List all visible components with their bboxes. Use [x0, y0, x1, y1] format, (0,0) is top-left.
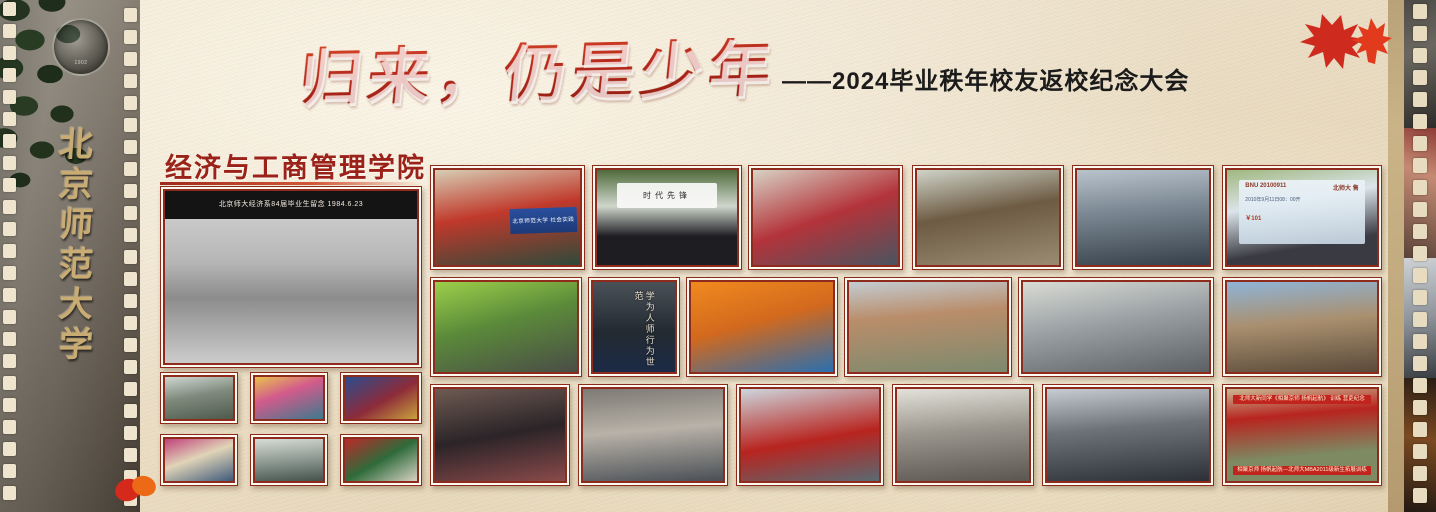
film-perforation — [1413, 4, 1427, 19]
right-border-panel — [1388, 0, 1436, 512]
photo-frame: BNU 20100911北师大 售2010年9月11日08：00开￥101 — [1225, 168, 1379, 267]
department-title: 经济与工商管理学院 — [165, 146, 426, 185]
graduation-gowns-photo[interactable]: 时代先锋 — [592, 165, 742, 270]
film-perforation — [3, 332, 16, 346]
photo-frame — [1075, 168, 1211, 267]
evening-party-group-photo[interactable] — [430, 384, 570, 486]
film-perforation — [1413, 334, 1427, 349]
film-perforation — [124, 228, 137, 242]
photo-image — [255, 439, 323, 481]
orange-shirts-team-photo[interactable] — [686, 277, 838, 377]
photo-frame — [847, 280, 1009, 374]
film-perforation — [1413, 290, 1427, 305]
photo-image — [345, 377, 417, 419]
film-strip-right-perforations — [1404, 0, 1436, 512]
maple-leaf-icon-bottom-left — [110, 466, 166, 506]
photo-image — [917, 170, 1059, 265]
bnu-char-0: 北 — [58, 128, 94, 162]
red-shirts-classroom-photo[interactable]: 北京师范大学 社会实践 — [430, 165, 585, 270]
photo-frame — [751, 168, 900, 267]
campus-wall-photo-panel: 1902 北 京 师 范 大 学 — [0, 0, 140, 512]
mba-training-group-photo[interactable]: 北师大新同学《相聚京师 扬帆起航》 训练 营吏纪念相聚京师 扬帆起航—北师大MB… — [1222, 384, 1382, 486]
film-perforation — [124, 140, 137, 154]
photo-image — [165, 377, 233, 419]
mountain-trip-group-photo[interactable] — [1222, 277, 1382, 377]
film-perforation — [3, 376, 16, 390]
photo-frame — [433, 280, 579, 374]
film-perforation — [124, 118, 137, 132]
film-perforation — [3, 112, 16, 126]
film-perforation — [124, 426, 137, 440]
film-perforation — [1413, 356, 1427, 371]
film-perforation — [1413, 246, 1427, 261]
film-perforation — [1413, 158, 1427, 173]
photo-image — [435, 282, 577, 372]
film-perforation — [3, 288, 16, 302]
outdoor-tree-group-photo[interactable] — [912, 165, 1064, 270]
office-meeting-group-photo[interactable] — [892, 384, 1034, 486]
film-perforation — [3, 178, 16, 192]
award-ceremony-photo[interactable] — [160, 434, 238, 486]
photo-image — [1047, 389, 1209, 481]
green-flag-group-photo[interactable] — [430, 277, 582, 377]
film-perforation — [124, 338, 137, 352]
sports-meet-banner-photo[interactable] — [736, 384, 884, 486]
film-perforation — [124, 162, 137, 176]
santa-hats-group-photo[interactable] — [340, 434, 422, 486]
bnu-char-5: 学 — [58, 328, 94, 362]
bnu-char-3: 范 — [58, 248, 94, 282]
film-perforation — [3, 134, 16, 148]
film-perforation — [3, 464, 16, 478]
film-perforation — [124, 206, 137, 220]
film-perforation — [1413, 378, 1427, 393]
photo-image — [741, 389, 879, 481]
bnu-motto-stone-photo[interactable]: 学为人师行为世范 — [588, 277, 680, 377]
photo-frame — [1225, 280, 1379, 374]
film-perforation — [3, 156, 16, 170]
film-perforation — [124, 360, 137, 374]
photo-caption: 北京师大经济系84届毕业生留念 1984.6.23 — [165, 191, 417, 219]
classroom-group-photo[interactable] — [160, 372, 238, 424]
photo-frame — [1045, 387, 1211, 483]
photo-frame — [163, 375, 235, 421]
film-perforation — [1413, 48, 1427, 63]
photo-frame — [253, 437, 325, 483]
photo-frame — [163, 437, 235, 483]
film-perforation — [124, 8, 137, 22]
film-perforation — [1413, 70, 1427, 85]
department-title-underline — [160, 182, 420, 185]
bnu-char-1: 京 — [58, 168, 94, 202]
party-decoration-photo[interactable] — [250, 372, 328, 424]
film-perforation — [1413, 180, 1427, 195]
photo-frame: 时代先锋 — [595, 168, 739, 267]
photo-image — [897, 389, 1029, 481]
film-perforation — [3, 46, 16, 60]
film-perforation — [3, 266, 16, 280]
bnu-emblem-icon: 1902 — [52, 18, 110, 76]
film-perforation — [124, 294, 137, 308]
photo-image — [691, 282, 833, 372]
building-steps-group-photo[interactable] — [578, 384, 728, 486]
lecture-room-photo[interactable] — [250, 434, 328, 486]
photo-image — [1077, 170, 1209, 265]
photo-frame — [689, 280, 835, 374]
event-banner: 北京师范大学 社会实践 — [510, 207, 578, 234]
film-perforation — [1413, 488, 1427, 503]
photo-frame — [581, 387, 725, 483]
photo-frame — [915, 168, 1061, 267]
film-perforation — [124, 30, 137, 44]
photo-image — [753, 170, 898, 265]
photo-frame: 北京师范大学 社会实践 — [433, 168, 582, 267]
film-perforation — [1413, 224, 1427, 239]
film-perforation — [1413, 422, 1427, 437]
auditorium-stage-photo[interactable] — [1042, 384, 1214, 486]
photo-image — [435, 389, 565, 481]
film-perforation — [124, 272, 137, 286]
film-perforation — [3, 354, 16, 368]
photo-image — [255, 377, 323, 419]
film-perforation — [3, 24, 16, 38]
film-perforation — [1413, 26, 1427, 41]
film-perforation — [1413, 312, 1427, 327]
photo-frame: 北京师大经济系84届毕业生留念 1984.6.23 — [163, 189, 419, 365]
photo-frame — [343, 437, 419, 483]
film-perforation — [3, 244, 16, 258]
film-perforation — [3, 310, 16, 324]
photo-frame — [343, 375, 419, 421]
bnu-graduation-ticket-photo[interactable]: BNU 20100911北师大 售2010年9月11日08：00开￥101 — [1222, 165, 1382, 270]
film-perforation — [1413, 268, 1427, 283]
photo-image — [849, 282, 1007, 372]
photo-frame — [1021, 280, 1211, 374]
university-name-vertical: 北 京 师 范 大 学 — [44, 128, 108, 362]
photo-frame: 学为人师行为世范 — [591, 280, 677, 374]
poster-header: 归来，仍是少年 ——2024毕业秩年校友返校纪念大会 — [300, 42, 1189, 104]
film-perforation — [124, 448, 137, 462]
ticket-code: BNU 20100911 — [1245, 183, 1286, 189]
film-perforation — [124, 250, 137, 264]
ticket-price-label: ￥101 — [1245, 213, 1261, 222]
page-subtitle: ——2024毕业秩年校友返校纪念大会 — [782, 61, 1189, 96]
film-perforation — [1413, 92, 1427, 107]
ticket-time-label: 2010年9月11日08：00开 — [1245, 196, 1300, 203]
film-perforation — [1413, 202, 1427, 217]
film-perforation — [3, 398, 16, 412]
film-perforation — [1413, 114, 1427, 129]
photo-image — [1023, 282, 1209, 372]
page-title: 归来，仍是少年 — [296, 37, 779, 109]
class-of-1984-group-photo[interactable]: 北京师大经济系84届毕业生留念 1984.6.23 — [160, 186, 422, 368]
photo-image — [345, 439, 417, 481]
ticket-corner-label: 北师大 售 — [1333, 183, 1359, 192]
photo-image — [1227, 282, 1377, 372]
photo-image — [165, 439, 233, 481]
film-perforation — [3, 420, 16, 434]
film-perforation — [124, 404, 137, 418]
bnu-char-2: 师 — [58, 208, 94, 242]
film-perforation — [124, 316, 137, 330]
bnu-char-4: 大 — [58, 288, 94, 322]
photo-frame — [433, 387, 567, 483]
film-perforation — [3, 486, 16, 500]
film-perforation — [3, 442, 16, 456]
bnu-motto-text: 学为人师行为世范 — [631, 291, 654, 372]
film-perforation — [1413, 444, 1427, 459]
film-perforation — [124, 96, 137, 110]
photo-frame — [895, 387, 1031, 483]
poster-canvas: 1902 北 京 师 范 大 学 归来，仍是少年 ——2024毕业秩年校友返校纪… — [0, 0, 1436, 512]
film-perforation — [1413, 466, 1427, 481]
campus-building-group-photo[interactable] — [1072, 165, 1214, 270]
photo-frame — [253, 375, 325, 421]
christmas-celebration-photo[interactable] — [340, 372, 422, 424]
film-perforation — [3, 90, 16, 104]
indoor-study-group-photo[interactable] — [1018, 277, 1214, 377]
film-perforation — [124, 52, 137, 66]
event-banner-bottom: 相聚京师 扬帆起航—北师大MBA2011级新生拓展训练 — [1233, 466, 1371, 474]
photo-frame — [739, 387, 881, 483]
graduation-ticket-backdrop: BNU 20100911北师大 售2010年9月11日08：00开￥101 — [1239, 180, 1365, 245]
film-perforation — [124, 382, 137, 396]
photo-image — [583, 389, 723, 481]
film-perforation — [124, 74, 137, 88]
film-perforation — [1413, 136, 1427, 151]
event-banner-top: 北师大新同学《相聚京师 扬帆起航》 训练 营吏纪念 — [1233, 395, 1371, 403]
film-perforation — [1413, 400, 1427, 415]
emblem-year-label: 1902 — [54, 60, 108, 66]
film-perforation — [3, 200, 16, 214]
film-perforation — [3, 68, 16, 82]
photo-frame: 北师大新同学《相聚京师 扬帆起航》 训练 营吏纪念相聚京师 扬帆起航—北师大MB… — [1225, 387, 1379, 483]
film-perforation — [124, 184, 137, 198]
film-perforation — [3, 222, 16, 236]
village-school-group-photo[interactable] — [844, 277, 1012, 377]
film-strip-left-outer — [0, 0, 19, 512]
film-perforation — [3, 2, 16, 16]
red-clothes-group-photo[interactable] — [748, 165, 903, 270]
backdrop-board-text: 时代先锋 — [617, 183, 718, 208]
maple-leaf-icon-top-right — [1296, 12, 1392, 72]
film-strip-left-inner — [121, 0, 140, 512]
